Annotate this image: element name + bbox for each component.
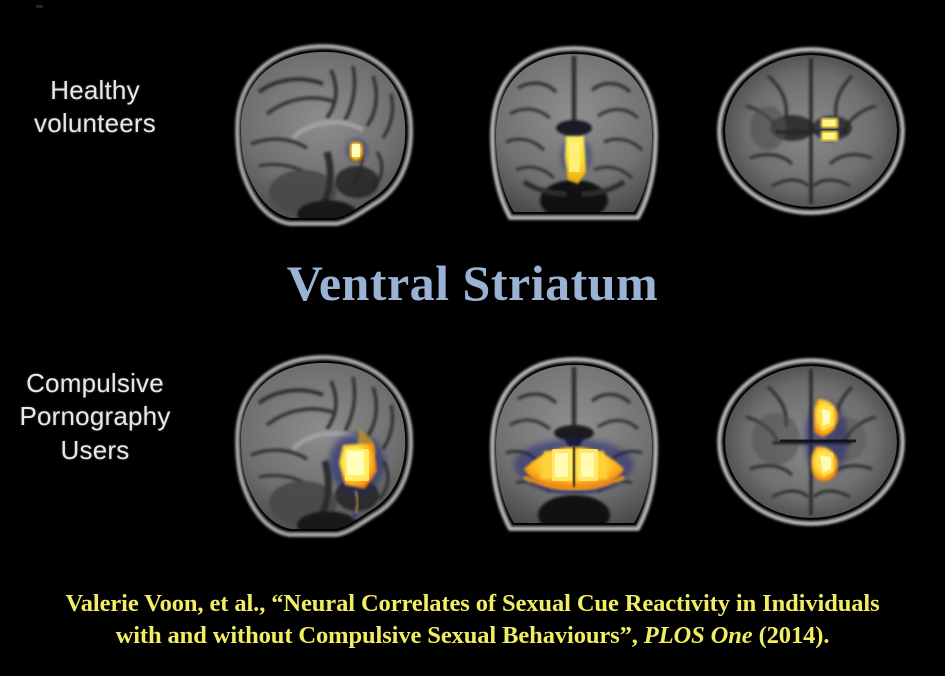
brain-panel-healthy-sagittal xyxy=(207,32,435,228)
citation-journal-name: PLOS One xyxy=(644,622,753,649)
brain-panel-healthy-coronal xyxy=(466,32,682,228)
row-label-line: Healthy xyxy=(0,74,190,107)
row-label-line: Users xyxy=(0,434,190,467)
mri-sagittal-cpu-svg xyxy=(207,343,435,539)
citation-line-1: Valerie Voon, et al., “Neural Correlates… xyxy=(18,588,927,620)
mri-coronal-cpu-svg xyxy=(466,343,682,539)
row-label-compulsive-pornography-users: Compulsive Pornography Users xyxy=(0,367,190,467)
brain-panel-cpu-axial xyxy=(706,347,928,537)
brain-tissue xyxy=(725,55,897,207)
citation-text: Valerie Voon, et al., “Neural Correlates… xyxy=(0,588,945,653)
row-label-line: volunteers xyxy=(0,107,190,140)
activation-cluster xyxy=(346,139,368,161)
slide-canvas: Healthy volunteers xyxy=(0,0,945,676)
mri-axial-cpu-svg xyxy=(706,347,928,537)
brain-panel-cpu-coronal xyxy=(466,343,682,539)
brain-panel-cpu-sagittal xyxy=(207,343,435,539)
mri-coronal-healthy-svg xyxy=(466,32,682,228)
activation-cluster xyxy=(816,116,842,142)
row-label-line: Pornography xyxy=(0,400,190,433)
brain-panel-healthy-axial xyxy=(706,36,928,226)
citation-line2-before: with and without Compulsive Sexual Behav… xyxy=(116,622,644,649)
row-label-line: Compulsive xyxy=(0,367,190,400)
mri-sagittal-healthy-svg xyxy=(207,32,435,228)
page-title: Ventral Striatum xyxy=(0,258,945,308)
mri-axial-healthy-svg xyxy=(706,36,928,226)
activation-cluster xyxy=(514,439,634,493)
row-label-healthy-volunteers: Healthy volunteers xyxy=(0,74,190,141)
citation-line2-after: (2014). xyxy=(753,622,830,649)
citation-line-2: with and without Compulsive Sexual Behav… xyxy=(18,620,927,652)
corner-artifact-speck xyxy=(36,5,43,8)
